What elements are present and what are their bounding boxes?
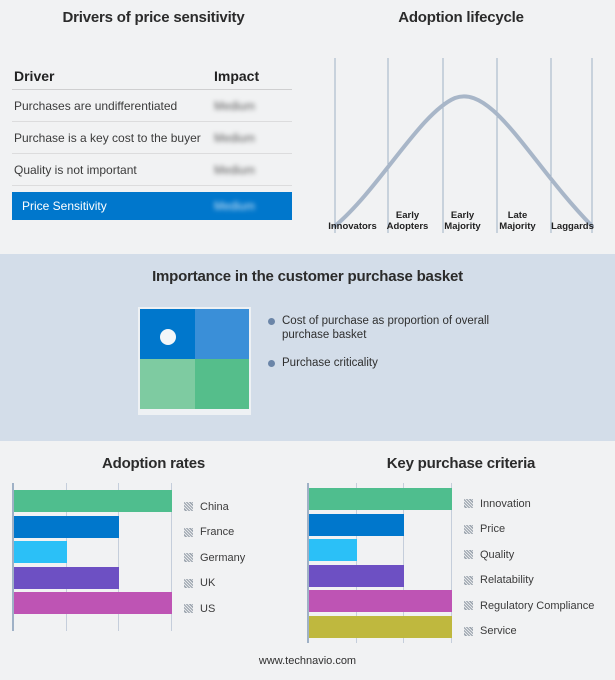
legend-label: Quality	[480, 549, 514, 561]
adoption-plot-area	[12, 483, 172, 631]
legend-item: Regulatory Compliance	[464, 593, 594, 619]
bar-germany	[14, 541, 67, 563]
lifecycle-segment-labels: Innovators Early Adopters Early Majority…	[325, 196, 600, 234]
legend-label: Purchase criticality	[282, 356, 378, 370]
legend-label: Germany	[200, 552, 245, 564]
segment-label-early-majority: Early Majority	[435, 196, 490, 234]
infographic-page: Drivers of price sensitivity Driver Impa…	[0, 0, 615, 680]
panel-title-adoption-rates: Adoption rates	[0, 455, 307, 472]
basket-legend: Cost of purchase as proportion of overal…	[268, 314, 568, 384]
legend-label: UK	[200, 577, 215, 589]
driver-label: Purchase is a key cost to the buyer	[12, 131, 214, 145]
legend-item: Relatability	[464, 568, 594, 594]
quadrant-top-right	[195, 309, 250, 359]
legend-item: France	[184, 520, 245, 546]
driver-label: Quality is not important	[12, 163, 214, 177]
table-header-row: Driver Impact	[12, 62, 292, 90]
hatched-square-icon	[184, 604, 193, 613]
segment-label-laggards: Laggards	[545, 196, 600, 234]
quadrant-bottom-right	[195, 359, 250, 409]
bar-relatability	[309, 565, 404, 587]
legend-label: Price	[480, 523, 505, 535]
adoption-lifecycle-panel: Adoption lifecycle Innovators Early Adop…	[307, 0, 615, 254]
hatched-square-icon	[184, 553, 193, 562]
bar-france	[14, 516, 119, 538]
bar-uk	[14, 567, 119, 589]
legend-label: France	[200, 526, 234, 538]
hatched-square-icon	[464, 627, 473, 636]
bar-china	[14, 490, 172, 512]
impact-value: Medium	[214, 199, 292, 213]
table-row-highlighted: Price Sensitivity Medium	[12, 192, 292, 220]
table-row: Purchase is a key cost to the buyer Medi…	[12, 122, 292, 154]
column-header-driver: Driver	[12, 68, 214, 84]
driver-label: Purchases are undifferentiated	[12, 99, 214, 113]
hatched-square-icon	[184, 528, 193, 537]
hatched-square-icon	[184, 579, 193, 588]
drivers-table: Driver Impact Purchases are undifferenti…	[12, 62, 292, 220]
bar-us	[14, 592, 172, 614]
impact-value: Medium	[214, 99, 292, 113]
panel-title-basket: Importance in the customer purchase bask…	[0, 268, 615, 285]
segment-label-late-majority: Late Majority	[490, 196, 545, 234]
legend-label: Innovation	[480, 498, 531, 510]
bar-regulatory-compliance	[309, 590, 452, 612]
impact-value: Medium	[214, 131, 292, 145]
table-row: Quality is not important Medium	[12, 154, 292, 186]
legend-item: Innovation	[464, 491, 594, 517]
footer-url: www.technavio.com	[0, 655, 615, 667]
legend-label: Service	[480, 625, 517, 637]
legend-item: Quality	[464, 542, 594, 568]
legend-label: US	[200, 603, 215, 615]
criteria-legend: InnovationPriceQualityRelatabilityRegula…	[464, 483, 594, 644]
driver-label: Price Sensitivity	[20, 199, 214, 213]
column-header-impact: Impact	[214, 68, 292, 84]
bar-innovation	[309, 488, 452, 510]
legend-item: Service	[464, 619, 594, 645]
hatched-square-icon	[464, 550, 473, 559]
criteria-plot-area	[307, 483, 452, 643]
panel-title-drivers: Drivers of price sensitivity	[0, 9, 307, 26]
legend-item: China	[184, 494, 245, 520]
hatched-square-icon	[184, 502, 193, 511]
segment-label-early-adopters: Early Adopters	[380, 196, 435, 234]
hatched-square-icon	[464, 499, 473, 508]
hatched-square-icon	[464, 576, 473, 585]
hatched-square-icon	[464, 525, 473, 534]
legend-label: Regulatory Compliance	[480, 600, 594, 612]
bar-quality	[309, 539, 357, 561]
adoption-rates-panel: Adoption rates ChinaFranceGermanyUKUS	[0, 441, 307, 646]
quadrant-matrix	[138, 307, 251, 415]
table-row: Purchases are undifferentiated Medium	[12, 90, 292, 122]
adoption-rates-chart: ChinaFranceGermanyUKUS	[12, 483, 245, 631]
legend-item: Germany	[184, 545, 245, 571]
legend-label: Cost of purchase as proportion of overal…	[282, 314, 497, 342]
bar-price	[309, 514, 404, 536]
hatched-square-icon	[464, 601, 473, 610]
legend-item: US	[184, 596, 245, 622]
panel-title-lifecycle: Adoption lifecycle	[307, 9, 615, 26]
legend-item: Purchase criticality	[268, 356, 568, 370]
drivers-of-price-sensitivity-panel: Drivers of price sensitivity Driver Impa…	[0, 0, 307, 254]
impact-value: Medium	[214, 163, 292, 177]
key-purchase-criteria-panel: Key purchase criteria InnovationPriceQua…	[307, 441, 615, 646]
position-marker-dot	[160, 329, 176, 345]
quadrant-top-left	[140, 309, 195, 359]
legend-item: Price	[464, 517, 594, 543]
key-purchase-criteria-chart: InnovationPriceQualityRelatabilityRegula…	[307, 483, 594, 644]
legend-label: China	[200, 501, 229, 513]
adoption-legend: ChinaFranceGermanyUKUS	[184, 483, 245, 631]
legend-item: Cost of purchase as proportion of overal…	[268, 314, 568, 342]
segment-label-innovators: Innovators	[325, 196, 380, 234]
panel-title-key-purchase-criteria: Key purchase criteria	[307, 455, 615, 472]
legend-label: Relatability	[480, 574, 534, 586]
bullet-icon	[268, 318, 275, 325]
bullet-icon	[268, 360, 275, 367]
quadrant-bottom-left	[140, 359, 195, 409]
bar-service	[309, 616, 452, 638]
legend-item: UK	[184, 571, 245, 597]
